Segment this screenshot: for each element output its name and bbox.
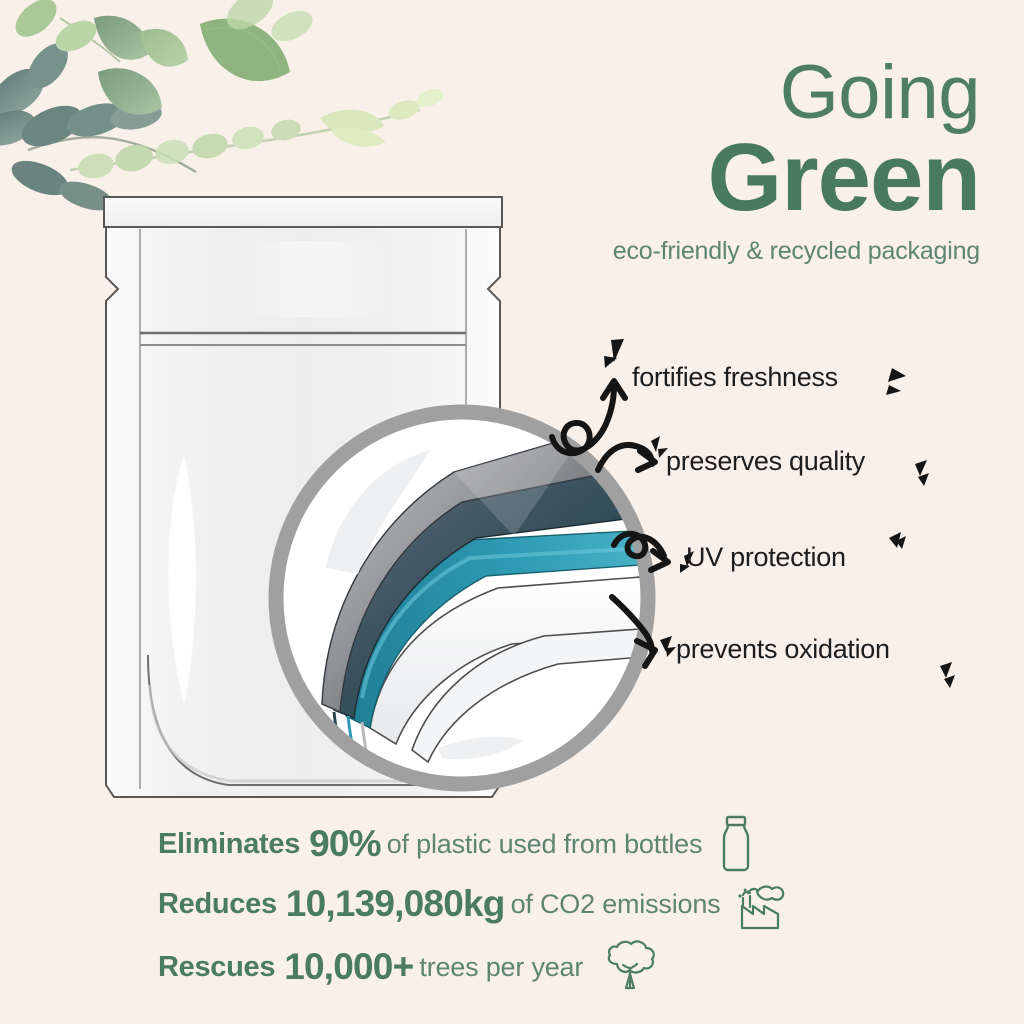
headline-line-1: Going xyxy=(420,56,980,130)
feature-label-uv-protection: UV protection xyxy=(686,542,846,573)
feature-label-prevents-oxidation: prevents oxidation xyxy=(676,634,890,665)
arrowhead-1 xyxy=(603,381,625,398)
magnified-cross-section xyxy=(262,398,662,798)
stat-tail: of CO2 emissions xyxy=(511,889,721,920)
pouch-sheen xyxy=(238,241,388,317)
stat-row-trees: Rescues 10,000+ trees per year xyxy=(158,938,663,996)
factory-icon xyxy=(734,876,786,932)
feature-label-fortifies-freshness: fortifies freshness xyxy=(632,362,838,393)
stat-row-bottles: Eliminates 90% of plastic used from bott… xyxy=(158,814,756,874)
leaf-sprig-pale xyxy=(70,85,446,181)
stat-lead: Reduces xyxy=(158,888,277,921)
stat-value: 10,139,080kg xyxy=(286,883,505,925)
stat-row-co2: Reduces 10,139,080kg of CO2 emissions xyxy=(158,876,786,932)
stat-lead: Rescues xyxy=(158,951,275,984)
stat-value: 90% xyxy=(309,823,381,865)
tree-icon xyxy=(597,938,663,996)
headline-block: Going Green eco-friendly & recycled pack… xyxy=(420,56,980,266)
headline-line-2: Green xyxy=(420,132,980,224)
stat-tail: of plastic used from bottles xyxy=(387,829,703,860)
headline-subtitle: eco-friendly & recycled packaging xyxy=(420,237,980,266)
leaf-cluster-mid xyxy=(9,0,290,115)
stat-tail: trees per year xyxy=(419,952,583,983)
feature-label-preserves-quality: preserves quality xyxy=(666,446,865,477)
leaf-cluster-upper-right xyxy=(220,0,317,47)
infographic-poster: Going Green eco-friendly & recycled pack… xyxy=(0,0,1024,1024)
bottle-icon xyxy=(716,814,756,874)
stat-value: 10,000+ xyxy=(284,946,413,988)
stat-lead: Eliminates xyxy=(158,828,300,861)
